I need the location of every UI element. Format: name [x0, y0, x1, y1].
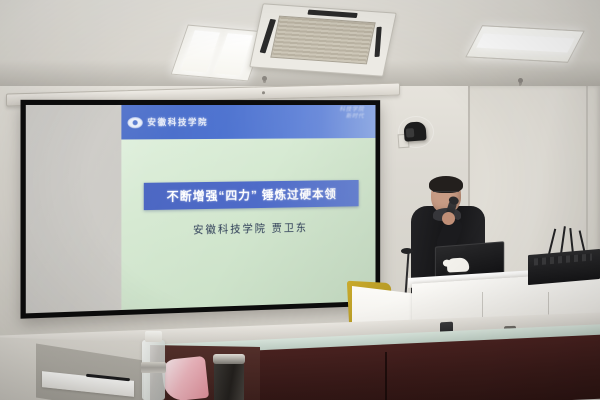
screen-unused-area [26, 105, 121, 313]
desk-figurine [447, 257, 470, 272]
light-tube [181, 30, 220, 72]
projection-screen-surface: 安徽科技学院 科技学院 新时代 不断增强“四力” 锤炼过硬本领 安徽科技学院 贾… [26, 105, 376, 313]
lecture-hall-photo: 安徽科技学院 科技学院 新时代 不断增强“四力” 锤炼过硬本领 安徽科技学院 贾… [0, 0, 600, 400]
slide-watermark: 科技学院 新时代 [339, 107, 364, 121]
presenter-hand [442, 212, 455, 225]
slide-header: 安徽科技学院 科技学院 新时代 [121, 105, 376, 140]
thermos [214, 362, 244, 400]
slide-watermark-line-2: 新时代 [339, 114, 364, 121]
thermos-lid [213, 354, 245, 364]
water-bottle [142, 340, 165, 400]
bottle-cap [145, 331, 162, 342]
university-logo-icon [127, 117, 142, 128]
presentation-slide: 安徽科技学院 科技学院 新时代 不断增强“四力” 锤炼过硬本领 安徽科技学院 贾… [121, 105, 376, 310]
recessed-linear-light-icon [465, 25, 585, 63]
slide-title-bar: 不断增强“四力” 锤炼过硬本领 [143, 180, 358, 210]
slide-title: 不断增强“四力” 锤炼过硬本领 [145, 185, 356, 205]
pink-bag [161, 356, 209, 400]
light-tube [476, 33, 574, 52]
ceiling-air-conditioner-icon [249, 3, 397, 77]
sprinkler-icon [518, 78, 523, 83]
ac-vane [374, 27, 381, 57]
slide-institution-logo-text: 安徽科技学院 [147, 116, 208, 128]
housing-knob [262, 91, 265, 94]
slide-watermark-line-1: 科技学院 [339, 107, 364, 114]
light-tube [214, 33, 253, 75]
ac-grille [270, 16, 375, 65]
bottle-band [141, 362, 166, 373]
slide-subtitle: 安徽科技学院 贾卫东 [121, 219, 376, 239]
desk-panel-seam [385, 352, 387, 400]
ac-vane [307, 10, 357, 18]
security-camera-icon [403, 121, 426, 141]
sprinkler-icon [262, 76, 267, 81]
projection-screen: 安徽科技学院 科技学院 新时代 不断增强“四力” 锤炼过硬本领 安徽科技学院 贾… [21, 100, 381, 319]
